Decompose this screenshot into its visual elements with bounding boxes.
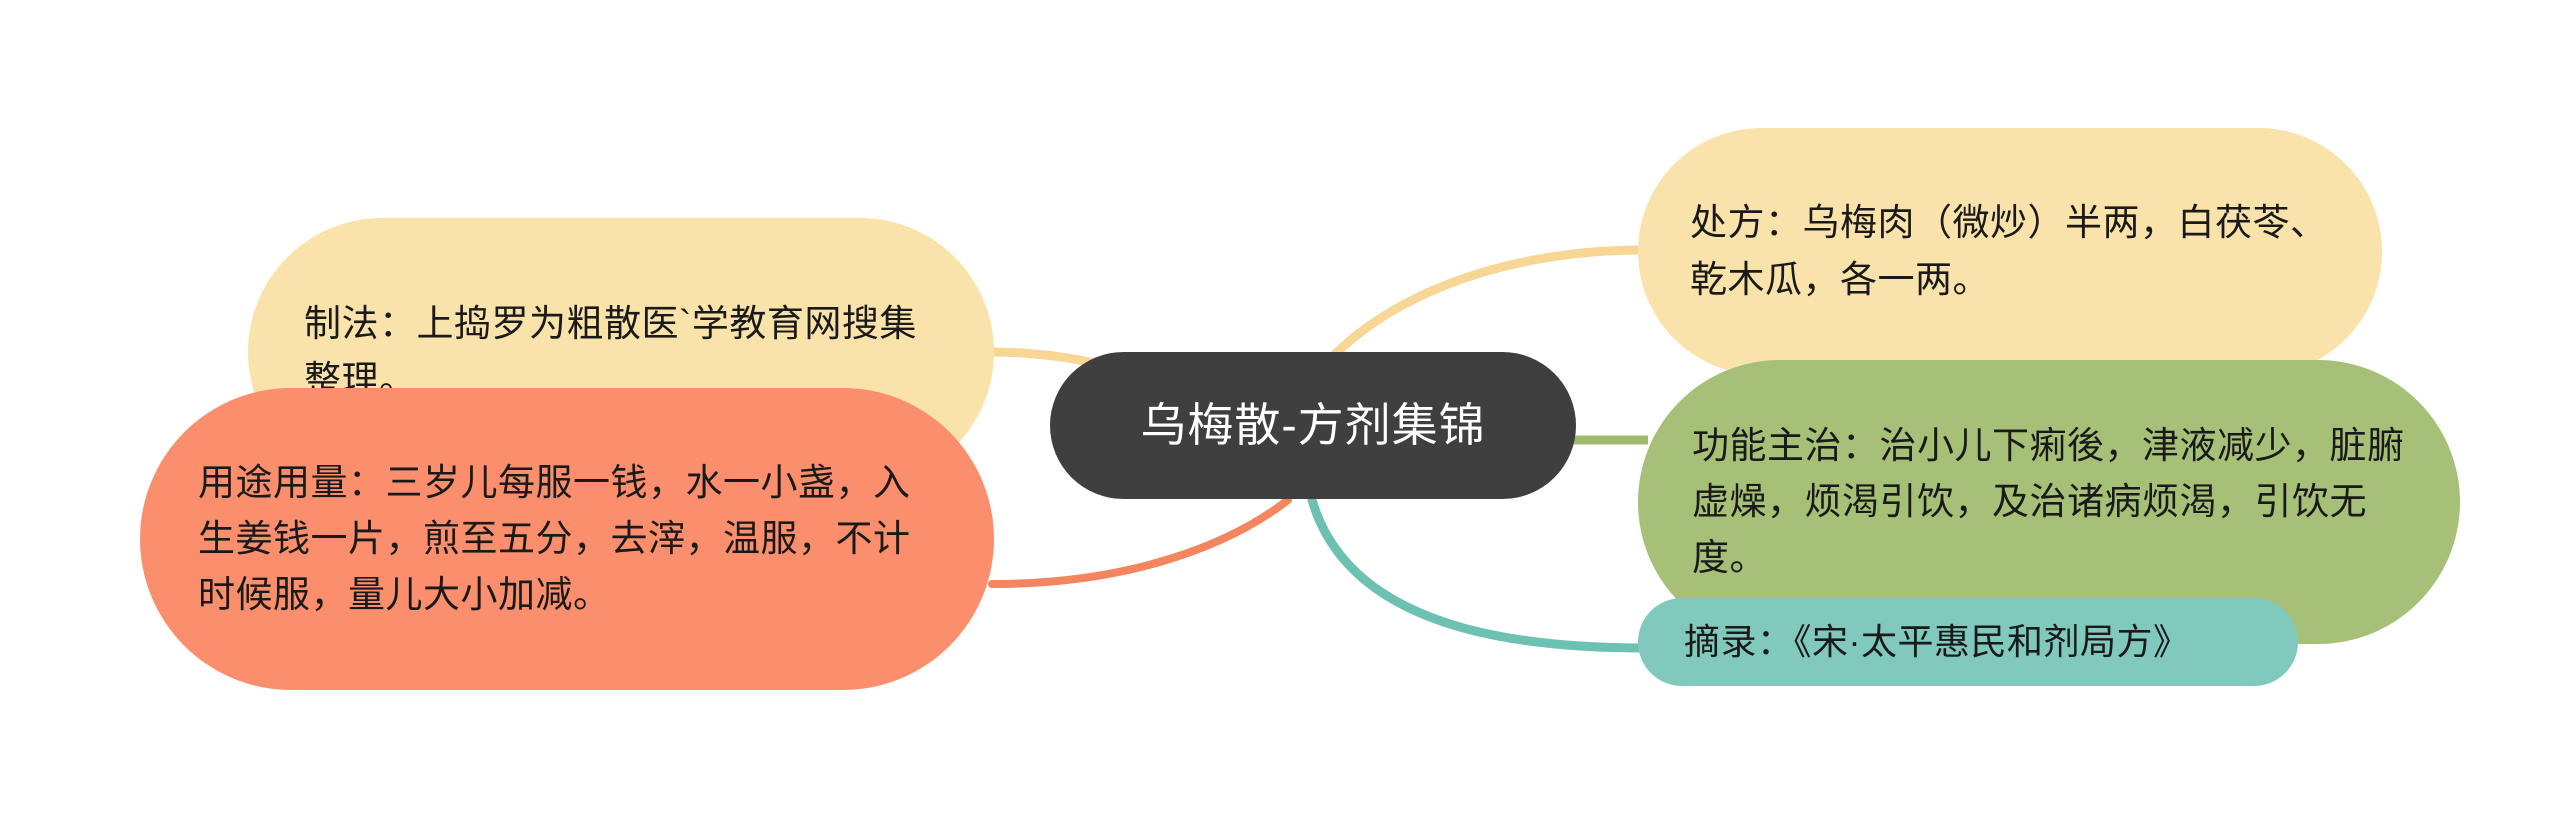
connector-zhailu <box>1312 500 1646 648</box>
node-label-gongneng-zhuzhi: 功能主治：治小儿下痢後，津液减少，脏腑虚燥，烦渴引饮，及治诸病烦渴，引饮无度。 <box>1692 418 2412 587</box>
connector-yongtu-yongliang <box>992 500 1288 584</box>
node-label-zhailu: 摘录：《宋·太平惠民和剂局方》 <box>1684 615 2258 670</box>
node-label-yongtu-yongliang: 用途用量：三岁儿每服一钱，水一小盏，入生姜钱一片，煎至五分，去滓，温服，不计时候… <box>198 455 940 624</box>
mindmap-root-node[interactable]: 乌梅散-方剂集锦 <box>1050 352 1576 499</box>
mindmap-node-zhailu[interactable]: 摘录：《宋·太平惠民和剂局方》 <box>1638 598 2298 686</box>
mindmap-node-chufang[interactable]: 处方：乌梅肉（微炒）半两，白茯苓、乾木瓜，各一两。 <box>1638 128 2382 375</box>
node-label-chufang: 处方：乌梅肉（微炒）半两，白茯苓、乾木瓜，各一两。 <box>1690 195 2336 307</box>
mindmap-node-yongtu-yongliang[interactable]: 用途用量：三岁儿每服一钱，水一小盏，入生姜钱一片，煎至五分，去滓，温服，不计时候… <box>140 388 994 690</box>
mindmap-canvas: 制法：上捣罗为粗散医`学教育网搜集整理。 用途用量：三岁儿每服一钱，水一小盏，入… <box>0 0 2560 827</box>
root-node-label: 乌梅散-方剂集锦 <box>1050 396 1576 456</box>
